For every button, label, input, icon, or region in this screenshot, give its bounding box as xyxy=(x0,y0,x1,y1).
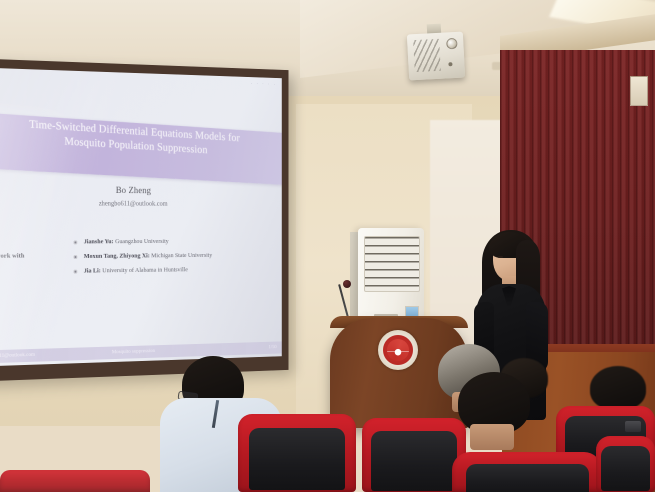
joint-work-label: Joint work with xyxy=(0,252,72,260)
slide-email: zhengbo611@outlook.com xyxy=(0,200,282,208)
auditorium-seat[interactable] xyxy=(238,414,356,492)
lecture-hall-photo: · · · · · Time-Switched Differential Equ… xyxy=(0,0,655,492)
head xyxy=(590,366,646,410)
seat-back xyxy=(371,431,456,490)
list-item: Moxun Tang, Zhiyong Xi: Michigan State U… xyxy=(74,252,274,261)
auditorium-seat[interactable] xyxy=(362,418,466,492)
ceiling-projector xyxy=(407,32,465,81)
collaborator-affiliation: Guangzhou University xyxy=(115,238,168,245)
slide-footer-title: Mosquito suppression xyxy=(0,341,282,363)
presenter-eye xyxy=(498,256,503,258)
slide-page-number: 1/50 xyxy=(269,342,277,354)
seat-back xyxy=(601,446,649,491)
wall-plate xyxy=(630,76,648,106)
projector-vents xyxy=(413,39,441,72)
list-item: Jia Li: University of Alabama in Huntsvi… xyxy=(74,266,274,276)
air-conditioner-grille xyxy=(364,236,420,292)
microphone-head-icon xyxy=(343,280,351,288)
auditorium-seat[interactable] xyxy=(596,436,655,492)
collaborator-affiliation: University of Alabama in Huntsville xyxy=(102,266,188,274)
slide-nav-dots: · · · · · xyxy=(251,81,277,87)
slide-footer: zhengbo611@outlook.com Mosquito suppress… xyxy=(0,341,282,363)
collaborator-list: Jianshe Yu: Guangzhou University Moxun T… xyxy=(74,238,274,283)
university-crest-icon xyxy=(378,330,418,370)
collaborator-affiliation: Michigan State University xyxy=(151,252,212,259)
seat-back xyxy=(466,464,589,492)
auditorium-seat[interactable] xyxy=(0,470,150,492)
list-item: Jianshe Yu: Guangzhou University xyxy=(74,238,274,247)
projection-screen-frame: · · · · · Time-Switched Differential Equ… xyxy=(0,58,289,382)
collaborator-names: Moxun Tang, Zhiyong Xi: xyxy=(84,253,150,260)
seat-back xyxy=(249,428,346,490)
projection-screen: · · · · · Time-Switched Differential Equ… xyxy=(0,67,282,366)
collaborator-names: Jianshe Yu: xyxy=(84,238,114,245)
crest-peak-icon xyxy=(392,343,404,356)
seat-tag xyxy=(625,421,641,432)
slide-content: · · · · · Time-Switched Differential Equ… xyxy=(0,67,282,366)
projector-led-icon xyxy=(448,62,452,66)
slide-author: Bo Zheng xyxy=(0,185,282,197)
neck xyxy=(470,424,514,450)
auditorium-seat[interactable] xyxy=(452,452,602,492)
collaborator-names: Jia Li: xyxy=(84,267,101,274)
projector-lens-icon xyxy=(446,38,458,50)
